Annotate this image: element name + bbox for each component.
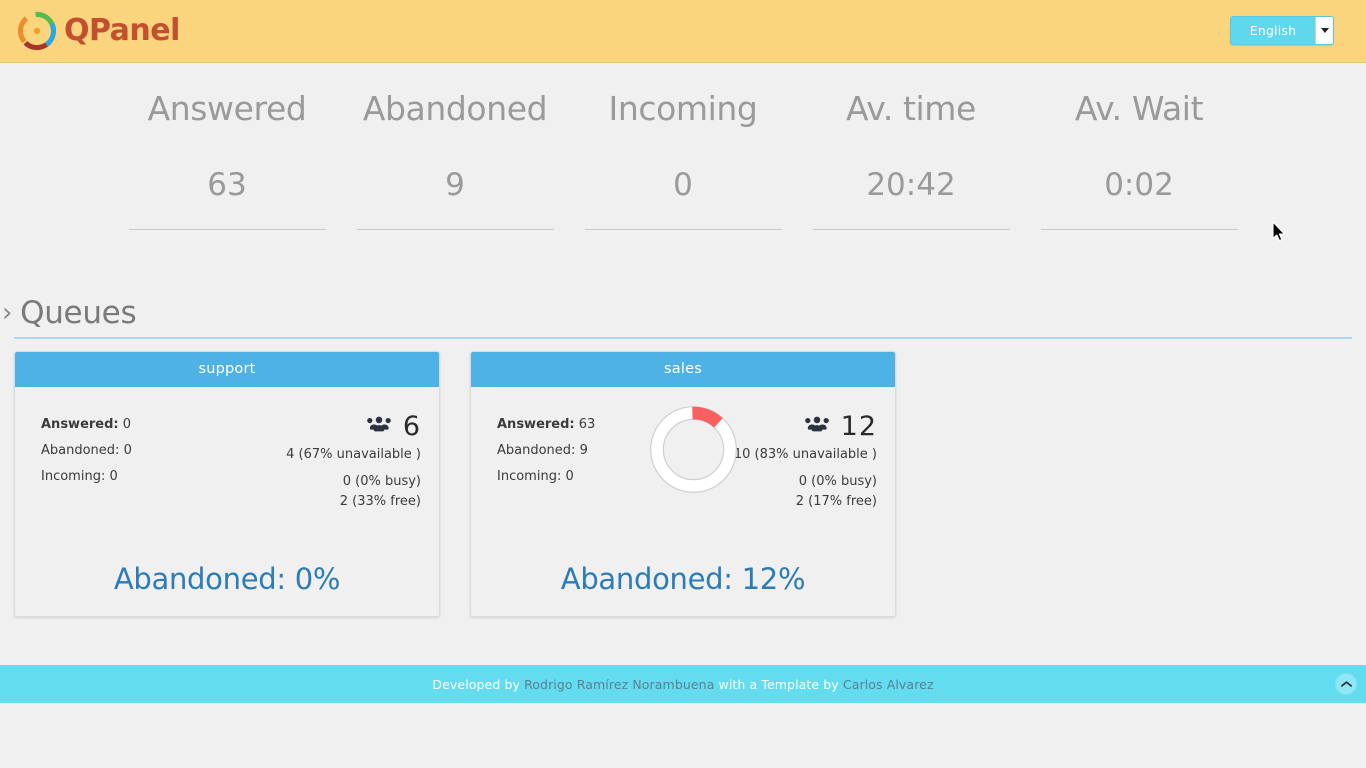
kpi-label: Answered [113,89,341,129]
kpi-average-wait: Av. Wait 0:02 [1025,89,1253,230]
stat-label: Incoming [41,469,101,484]
agents-total-count: 6 [403,413,421,440]
stat-value: 63 [579,417,596,432]
footer-middle: with a Template by [714,677,842,692]
chevron-up-icon [1341,680,1352,688]
chevron-down-icon [1321,28,1329,33]
brand-title: QPanel [64,16,180,46]
footer-author-link[interactable]: Rodrigo Ramírez Norambuena [524,677,714,692]
language-dropdown-toggle[interactable] [1315,17,1333,44]
queue-card-body: Answered: 63 Abandoned: 9 Incoming: 0 [471,387,895,562]
kpi-answered: Answered 63 [113,89,341,230]
stat-label: Abandoned [41,443,115,458]
queue-card-list: support Answered: 0 Abandoned: 0 Incomin… [0,339,1366,617]
kpi-value: 0:02 [1025,170,1253,201]
stat-label: Abandoned [497,443,571,458]
stat-label: Answered [497,417,569,432]
stat-abandoned: Abandoned: 9 [497,444,595,457]
kpi-divider [585,229,782,230]
queue-card-sales[interactable]: sales Answered: 63 Abandoned: 9 Incoming… [470,351,896,617]
kpi-value: 9 [341,170,569,201]
section-underline [14,337,1352,339]
kpi-divider [1041,229,1238,230]
kpi-value: 20:42 [797,170,1025,201]
kpi-label: Av. Wait [1025,89,1253,129]
brand-home-link[interactable]: QPanel [14,8,180,54]
stat-value: 0 [109,469,117,484]
kpi-incoming: Incoming 0 [569,89,797,230]
stat-value: 9 [580,443,588,458]
stat-answered: Answered: 0 [41,418,132,431]
queue-call-stats: Answered: 0 Abandoned: 0 Incoming: 0 [41,411,132,562]
chevron-right-icon: › [2,300,12,326]
users-group-icon [364,414,394,439]
footer-prefix: Developed by [432,677,524,692]
kpi-abandoned: Abandoned 9 [341,89,569,230]
stat-incoming: Incoming: 0 [41,470,132,483]
agents-busy: 0 (0% busy) [261,475,421,490]
users-group-icon [802,414,832,439]
kpi-divider [813,229,1010,230]
queue-abandoned-summary: Abandoned: 0% [15,562,439,616]
stat-incoming: Incoming: 0 [497,470,595,483]
agents-unavailable: 4 (67% unavailable ) [261,448,421,463]
footer-credits: Developed by Rodrigo Ramírez Norambuena … [432,677,933,692]
queue-card-title: support [15,352,439,387]
top-navbar: QPanel English [0,0,1366,63]
kpi-summary-row: Answered 63 Abandoned 9 Incoming 0 Av. t… [0,63,1366,230]
agents-free: 2 (33% free) [261,495,421,510]
queue-abandoned-summary: Abandoned: 12% [471,562,895,616]
stat-abandoned: Abandoned: 0 [41,444,132,457]
agents-total-count: 12 [841,413,877,440]
stat-value: 0 [123,417,131,432]
kpi-divider [357,229,554,230]
queue-call-stats: Answered: 63 Abandoned: 9 Incoming: 0 [497,411,595,562]
stat-label: Answered [41,417,113,432]
scroll-to-top-button[interactable] [1335,673,1357,695]
qpanel-ring-logo-icon [14,8,60,54]
language-selector[interactable]: English [1230,16,1334,45]
kpi-value: 0 [569,170,797,201]
language-selected-value: English [1231,17,1315,44]
queue-card-body: Answered: 0 Abandoned: 0 Incoming: 0 [15,387,439,562]
kpi-average-time: Av. time 20:42 [797,89,1025,230]
stat-label: Incoming [497,469,557,484]
queue-card-support[interactable]: support Answered: 0 Abandoned: 0 Incomin… [14,351,440,617]
queue-card-title: sales [471,352,895,387]
kpi-label: Incoming [569,89,797,129]
queue-agent-stats: 6 4 (67% unavailable ) 0 (0% busy) 2 (33… [261,411,421,562]
kpi-divider [129,229,326,230]
site-footer: Developed by Rodrigo Ramírez Norambuena … [0,665,1366,703]
queues-section-title-row[interactable]: › Queues [0,295,1366,331]
agents-total-row: 6 [261,413,421,440]
stat-value: 0 [124,443,132,458]
footer-template-author-link[interactable]: Carlos Alvarez [843,677,934,692]
queues-section-header: › Queues [0,295,1366,339]
kpi-label: Abandoned [341,89,569,129]
page-title: Queues [20,295,136,331]
kpi-value: 63 [113,170,341,201]
abandoned-donut-chart [637,393,750,510]
stat-answered: Answered: 63 [497,418,595,431]
stat-value: 0 [565,469,573,484]
kpi-label: Av. time [797,89,1025,129]
